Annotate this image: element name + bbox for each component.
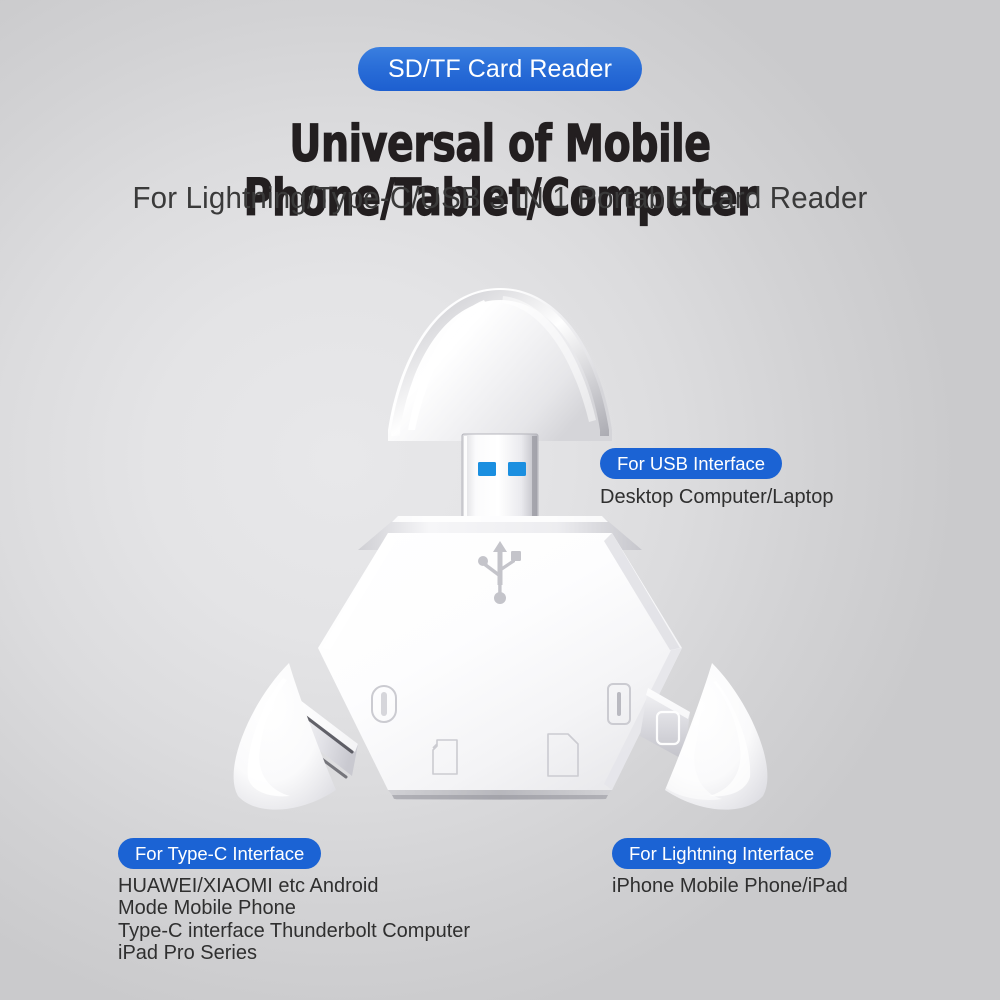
product-banner: SD/TF Card Reader Universal of Mobile Ph… — [0, 0, 1000, 1000]
callout-type-c-pill: For Type-C Interface — [118, 838, 321, 869]
callout-type-c-description: HUAWEI/XIAOMI etc Android Mode Mobile Ph… — [118, 875, 470, 965]
callout-lightning-pill: For Lightning Interface — [612, 838, 831, 869]
callout-usb-pill: For USB Interface — [600, 448, 782, 479]
usb-a-connector — [462, 434, 538, 518]
title-badge: SD/TF Card Reader — [358, 47, 642, 91]
callout-lightning: For Lightning Interface iPhone Mobile Ph… — [612, 838, 848, 897]
callout-usb-description: Desktop Computer/Laptop — [600, 486, 833, 508]
usb-contact-left — [478, 462, 496, 476]
page-subtitle: For Lightning/Type-C/USB 3 IN 1 Portable… — [25, 180, 975, 216]
top-cap — [388, 288, 612, 441]
callout-type-c: For Type-C Interface HUAWEI/XIAOMI etc A… — [118, 838, 470, 965]
callout-usb: For USB Interface Desktop Computer/Lapto… — [600, 448, 833, 508]
hexagon-body — [318, 516, 682, 800]
callout-lightning-description: iPhone Mobile Phone/iPad — [612, 875, 848, 897]
usb-contact-right — [508, 462, 526, 476]
